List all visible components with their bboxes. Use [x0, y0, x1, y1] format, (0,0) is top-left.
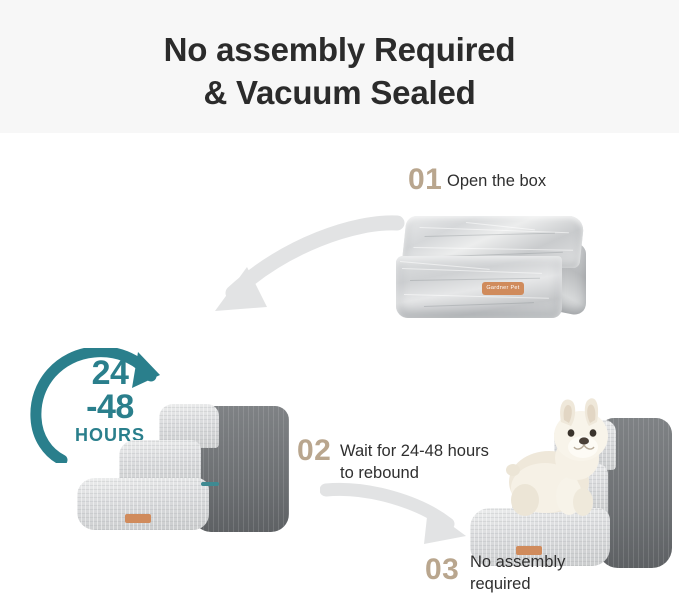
- french-bulldog: [505, 392, 623, 522]
- badge-line-1: 24: [50, 356, 170, 390]
- page-title: No assembly Required & Vacuum Sealed: [0, 28, 679, 114]
- package-crease: [413, 247, 573, 251]
- package-front: [396, 256, 562, 318]
- header-band: No assembly Required & Vacuum Sealed: [0, 0, 679, 133]
- step-03-label: No assembly required: [470, 551, 590, 595]
- package-crease: [424, 302, 534, 307]
- package-crease: [425, 233, 555, 237]
- promo-graphic: No assembly Required & Vacuum Sealed 01 …: [0, 0, 679, 599]
- vacuum-sealed-package: Gardner Pet: [396, 216, 586, 326]
- step-01-label: Open the box: [447, 170, 546, 192]
- package-crease: [402, 268, 542, 274]
- package-crease: [410, 278, 540, 281]
- stairs-left-brand-tag: [125, 514, 151, 523]
- step-03-number: 03: [425, 553, 459, 587]
- step-01-number: 01: [408, 163, 442, 197]
- title-line-1: No assembly Required: [164, 31, 516, 68]
- pet-stairs-left: [75, 400, 290, 550]
- package-crease: [404, 294, 549, 299]
- stairs-left-seam: [201, 482, 219, 486]
- arrow-step2-to-step3: [320, 480, 480, 560]
- arrow-step1-to-step2: [185, 215, 405, 345]
- step-02-number: 02: [297, 434, 331, 468]
- brand-tag: Gardner Pet: [482, 282, 524, 295]
- title-line-2: & Vacuum Sealed: [0, 71, 679, 114]
- step-02-label: Wait for 24-48 hours to rebound: [340, 440, 490, 484]
